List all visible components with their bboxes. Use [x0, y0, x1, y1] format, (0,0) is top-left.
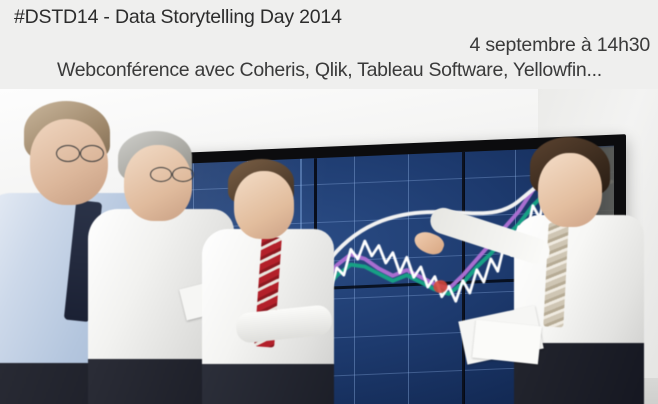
held-papers-secondary [472, 320, 542, 365]
event-subtitle: Webconférence avec Coheris, Qlik, Tablea… [57, 58, 602, 82]
person-presenter [500, 137, 650, 404]
event-datetime: 4 septembre à 14h30 [470, 33, 651, 57]
eyeglasses-icon [150, 167, 172, 182]
head [234, 171, 294, 239]
eyeglasses-icon [172, 167, 194, 182]
header: #DSTD14 - Data Storytelling Day 2014 4 s… [0, 0, 658, 89]
page-title: #DSTD14 - Data Storytelling Day 2014 [14, 5, 342, 29]
head [124, 145, 192, 221]
eyeglasses-icon [56, 145, 80, 162]
trousers [202, 364, 334, 404]
promo-banner: #DSTD14 - Data Storytelling Day 2014 4 s… [0, 0, 658, 404]
head [538, 153, 602, 227]
event-photo: 3400 [0, 89, 658, 404]
person-red-tie [208, 159, 328, 404]
